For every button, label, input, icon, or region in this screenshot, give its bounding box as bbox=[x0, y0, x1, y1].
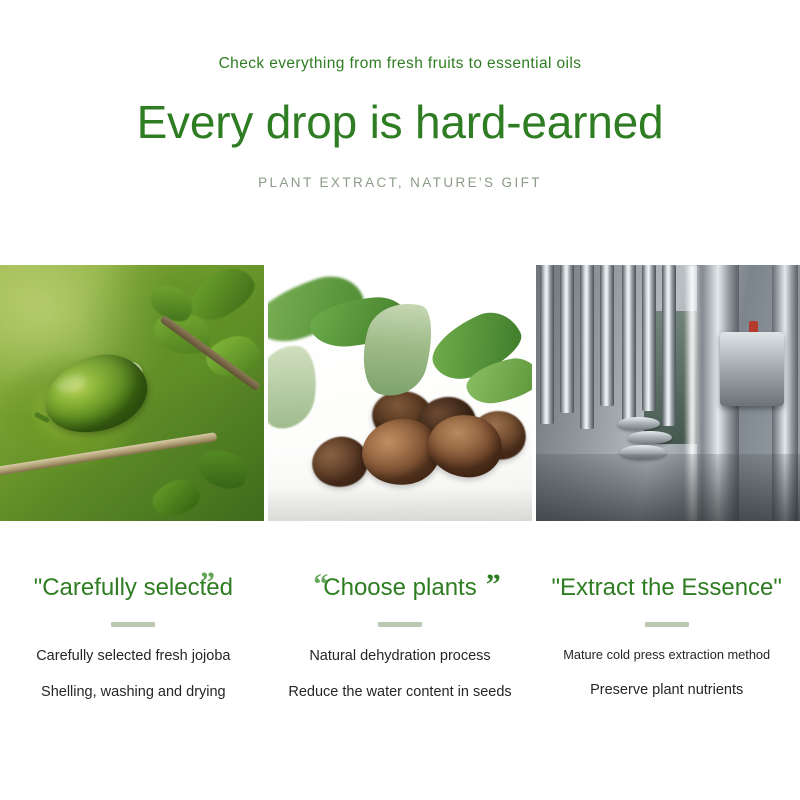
feature-title: “ Choose plants ” bbox=[323, 560, 476, 600]
pipe-shape bbox=[580, 265, 594, 429]
disc-shape bbox=[628, 431, 672, 444]
pipe-shape bbox=[540, 265, 554, 424]
feature-divider bbox=[111, 622, 155, 627]
page-title: Every drop is hard-earned bbox=[0, 98, 800, 146]
feature-divider bbox=[378, 622, 422, 627]
filling-head-shape bbox=[720, 332, 784, 406]
page-header: Check everything from fresh fruits to es… bbox=[0, 0, 800, 189]
feature-divider bbox=[645, 622, 689, 627]
feature-title-text: Choose plants bbox=[323, 574, 476, 601]
quote-close-icon: ” bbox=[486, 570, 501, 600]
feature-title: "Extract the Essence" bbox=[551, 560, 781, 600]
feature-line: Natural dehydration process bbox=[267, 649, 534, 664]
pipe-shape bbox=[600, 265, 614, 406]
quote-open-icon: “ bbox=[313, 570, 328, 600]
image-gallery bbox=[0, 265, 800, 521]
feature-line: Carefully selected fresh jojoba bbox=[0, 649, 267, 664]
feature-lines: Carefully selected fresh jojoba Shelling… bbox=[0, 649, 267, 699]
light-haze bbox=[0, 265, 264, 521]
feature-line: Mature cold press extraction method bbox=[533, 649, 800, 662]
gallery-image-extraction-machinery bbox=[536, 265, 800, 521]
feature-line: Preserve plant nutrients bbox=[533, 683, 800, 698]
eyebrow-text: Check everything from fresh fruits to es… bbox=[0, 56, 800, 72]
pipe-shape bbox=[560, 265, 574, 413]
promo-page: Check everything from fresh fruits to es… bbox=[0, 0, 800, 800]
pipe-shape bbox=[662, 265, 676, 426]
pipe-shape bbox=[642, 265, 656, 411]
surface-shadow bbox=[268, 487, 532, 521]
feature-carefully-selected: "Carefully selected ” Carefully selected… bbox=[0, 560, 267, 720]
pipe-shape bbox=[622, 265, 636, 421]
feature-lines: Mature cold press extraction method Pres… bbox=[533, 649, 800, 697]
feature-title: "Carefully selected ” bbox=[34, 560, 233, 600]
quote-close-icon: ” bbox=[200, 568, 215, 598]
disc-shape bbox=[618, 417, 660, 430]
leaf-shape bbox=[268, 341, 322, 432]
feature-line: Shelling, washing and drying bbox=[0, 685, 267, 700]
feature-line: Reduce the water content in seeds bbox=[267, 685, 534, 700]
feature-choose-plants: “ Choose plants ” Natural dehydration pr… bbox=[267, 560, 534, 720]
feature-title-text: "Extract the Essence" bbox=[551, 574, 781, 601]
page-subtitle: PLANT EXTRACT, NATURE'S GIFT bbox=[0, 176, 800, 190]
feature-columns: "Carefully selected ” Carefully selected… bbox=[0, 560, 800, 720]
feature-extract-the-essence: "Extract the Essence" Mature cold press … bbox=[533, 560, 800, 720]
feature-lines: Natural dehydration process Reduce the w… bbox=[267, 649, 534, 699]
gallery-image-jojoba-fruit-on-branch bbox=[0, 265, 264, 521]
machine-base-shadow bbox=[536, 454, 800, 521]
gallery-image-jojoba-seeds-with-leaves bbox=[268, 265, 532, 521]
